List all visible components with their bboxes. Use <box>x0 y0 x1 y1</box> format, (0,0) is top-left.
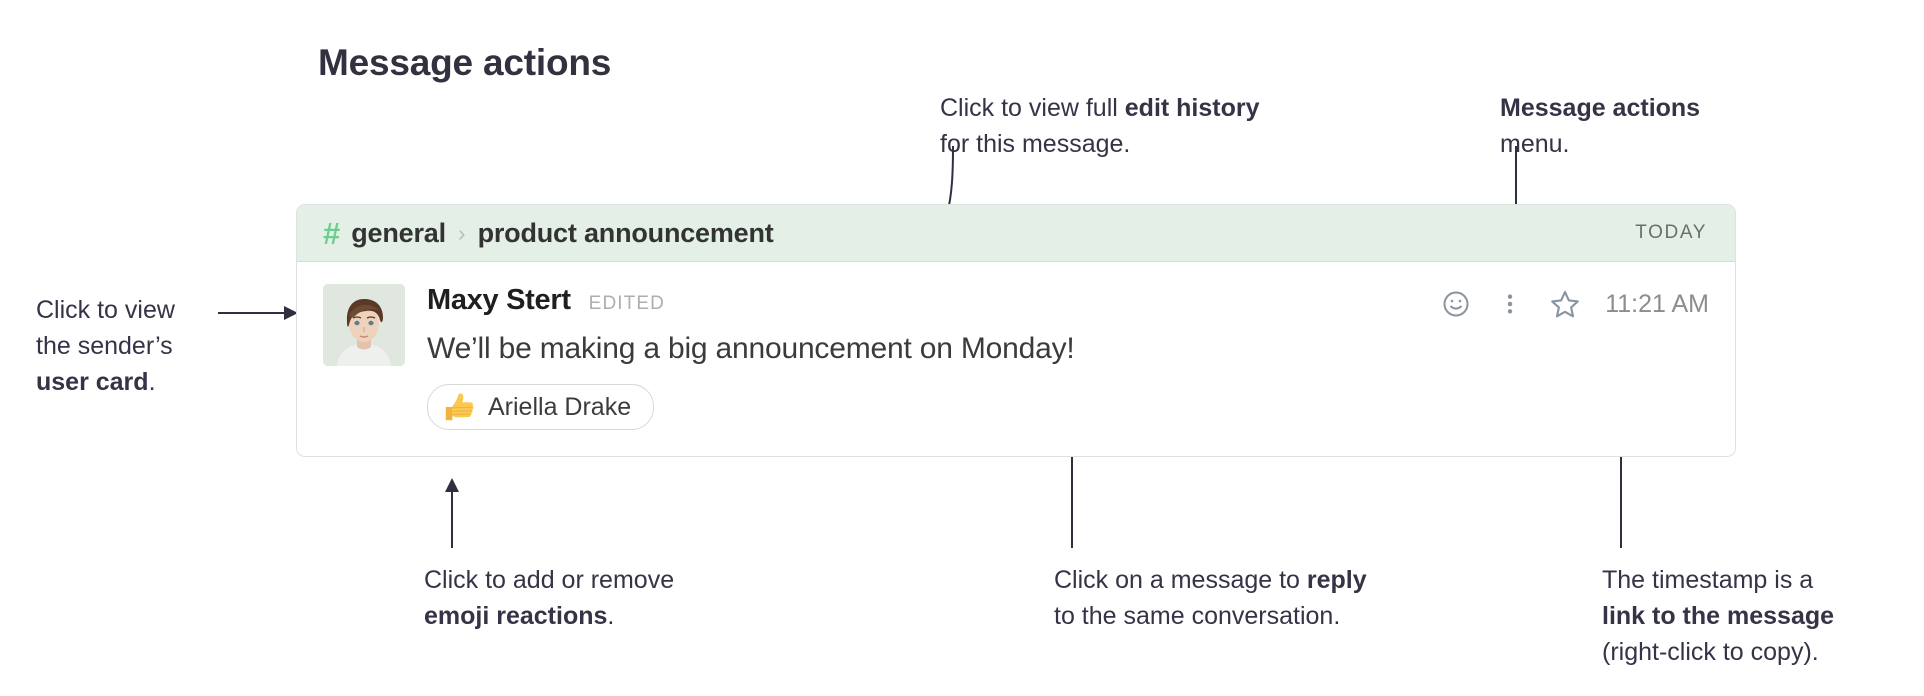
edited-label[interactable]: EDITED <box>589 293 665 315</box>
stream-name[interactable]: general <box>351 218 446 249</box>
reaction-label: Ariella Drake <box>488 393 631 422</box>
message-card: # general › product announcement TODAY <box>296 204 1736 457</box>
annotation-timestamp: The timestamp is a link to the message (… <box>1602 562 1834 670</box>
message-actions-bar: 11:21 AM <box>1441 288 1709 320</box>
annotation-user-card-suffix: . <box>149 368 156 396</box>
message-text[interactable]: We’ll be making a big announcement on Mo… <box>427 332 1709 366</box>
annotation-emoji-reactions: Click to add or remove emoji reactions. <box>424 562 674 634</box>
annotation-reply-text: Click on a message to <box>1054 566 1307 594</box>
annotation-actions-menu-bold: Message actions <box>1500 94 1700 122</box>
avatar[interactable] <box>323 284 405 366</box>
annotation-emoji-suffix: . <box>607 602 614 630</box>
annotation-edit-history-text: Click to view full <box>940 94 1125 122</box>
annotation-edit-history-line2: for this message. <box>940 126 1260 162</box>
annotation-user-card-bold: user card <box>36 368 149 396</box>
annotation-actions-menu: Message actions menu. <box>1500 90 1700 162</box>
emoji-reaction-icon[interactable] <box>1441 289 1471 319</box>
message-timestamp[interactable]: 11:21 AM <box>1605 290 1709 319</box>
reactions-list: Ariella Drake <box>427 384 1709 430</box>
annotation-edit-history: Click to view full edit history for this… <box>940 90 1260 162</box>
stream-topic-header[interactable]: # general › product announcement TODAY <box>297 205 1735 262</box>
breadcrumb-separator-icon: › <box>458 222 466 245</box>
annotation-reply: Click on a message to reply to the same … <box>1054 562 1367 634</box>
annotation-edit-history-bold: edit history <box>1125 94 1260 122</box>
annotation-emoji-line1: Click to add or remove <box>424 562 674 598</box>
annotation-reply-line2: to the same conversation. <box>1054 598 1367 634</box>
message-row[interactable]: Maxy Stert EDITED We’ll be making a big … <box>297 262 1735 456</box>
page-title: Message actions <box>318 42 611 84</box>
annotation-user-card-line1: Click to view <box>36 292 175 328</box>
star-icon[interactable] <box>1549 288 1581 320</box>
annotation-timestamp-bold: link to the message <box>1602 602 1834 630</box>
annotation-user-card: Click to view the sender’s user card. <box>36 292 175 400</box>
avatar-photo <box>323 284 405 366</box>
thumbs-up-icon <box>442 390 476 424</box>
annotation-timestamp-line3: (right-click to copy). <box>1602 634 1834 670</box>
topic-name[interactable]: product announcement <box>478 218 774 249</box>
message-actions-menu-icon[interactable] <box>1497 289 1523 319</box>
sender-name[interactable]: Maxy Stert <box>427 284 571 317</box>
hash-icon: # <box>323 218 340 249</box>
annotation-emoji-bold: emoji reactions <box>424 602 607 630</box>
date-label: TODAY <box>1635 222 1707 244</box>
reaction-pill[interactable]: Ariella Drake <box>427 384 654 430</box>
annotation-reply-bold: reply <box>1307 566 1367 594</box>
annotation-actions-menu-line2: menu. <box>1500 126 1700 162</box>
annotation-timestamp-line1: The timestamp is a <box>1602 562 1834 598</box>
annotation-user-card-line2: the sender’s <box>36 328 175 364</box>
